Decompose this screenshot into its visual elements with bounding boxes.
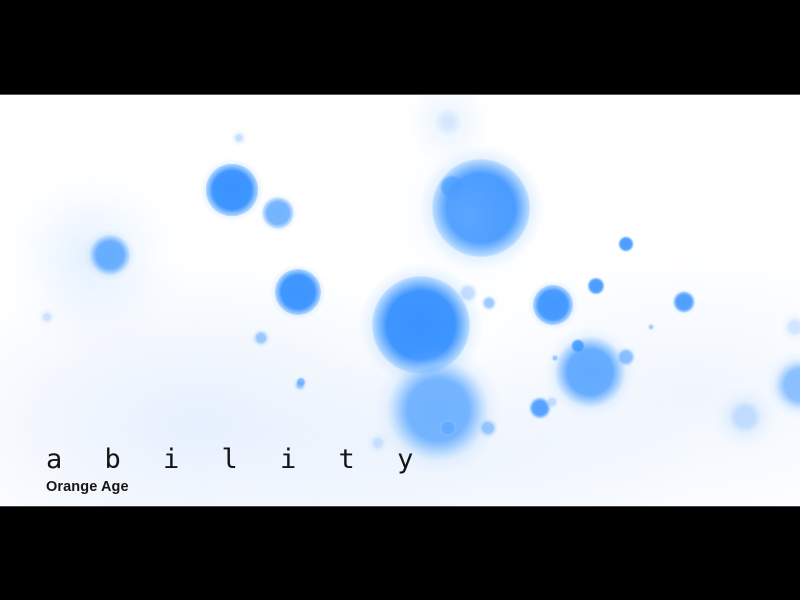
- blob-mid-left: [270, 264, 326, 320]
- blob-mid-left-dot1: [251, 328, 271, 348]
- blob-lower-right-b: [544, 394, 560, 410]
- blob-right-large: [545, 327, 635, 417]
- blob-left-large-soft: [0, 162, 188, 354]
- blob-center-sm1: [456, 281, 480, 305]
- blob-right-speck2: [551, 354, 559, 362]
- letterbox-top: [0, 0, 800, 95]
- blob-right-edge: [671, 289, 697, 315]
- blob-upper-left-small: [258, 193, 298, 233]
- page-title: a b i l i t y: [46, 445, 426, 475]
- screenshot-stage: a b i l i t y Orange Age: [0, 0, 800, 600]
- blob-text-right-dot: [295, 376, 307, 388]
- blob-right-speck: [647, 323, 655, 331]
- blob-top-ring: [439, 174, 465, 200]
- blob-center-halo: [374, 119, 566, 311]
- blob-center-main: [359, 263, 483, 387]
- blob-right-large-dot: [570, 338, 586, 354]
- page-subtitle: Orange Age: [46, 479, 426, 496]
- blob-top-pale: [404, 95, 492, 166]
- blob-mid-left-dot2: [293, 378, 307, 392]
- blob-far-right-top: [779, 311, 800, 343]
- blob-upper-left-dot: [230, 129, 248, 147]
- blob-far-right-edge: [766, 351, 800, 419]
- blob-left-tiny: [38, 308, 56, 326]
- blob-right-mid: [528, 280, 578, 330]
- blob-lower-dot: [477, 417, 499, 439]
- blob-center-dot: [438, 418, 458, 438]
- blob-right-dot2: [586, 276, 606, 296]
- blob-center-top: [419, 146, 543, 270]
- blob-left-core: [84, 229, 136, 281]
- blob-center-sm2: [480, 294, 498, 312]
- title-block: a b i l i t y Orange Age: [46, 445, 426, 496]
- letterbox-bottom: [0, 506, 800, 600]
- blob-upper-left-main: [200, 158, 264, 222]
- blob-lower-right-a: [527, 395, 553, 421]
- blob-right-dot1: [617, 235, 635, 253]
- bokeh-photo: a b i l i t y Orange Age: [0, 95, 800, 506]
- blob-right-sm: [615, 346, 637, 368]
- blob-far-right-pale: [713, 385, 777, 449]
